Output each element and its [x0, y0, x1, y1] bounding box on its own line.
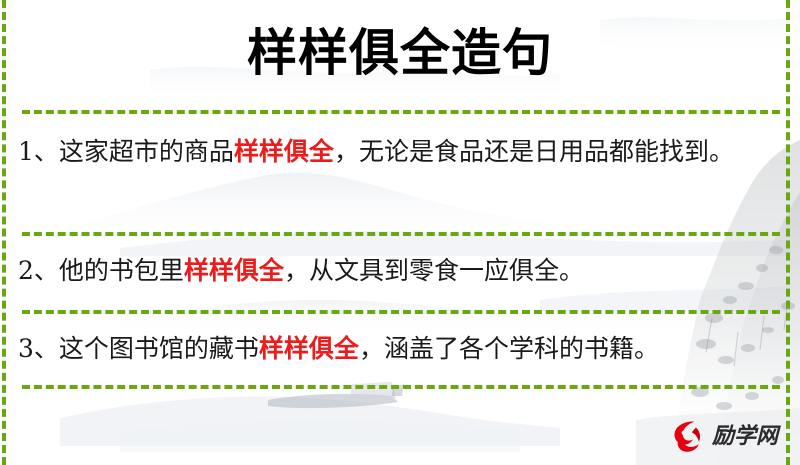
divider-title: [22, 110, 780, 114]
divider-sentence-3: [22, 385, 780, 389]
sentence-1-before: 这家超市的商品: [59, 137, 234, 166]
divider-sentence-2: [22, 310, 780, 314]
sentence-1-highlight: 样样俱全: [234, 137, 334, 166]
sentence-3-highlight: 样样俱全: [259, 334, 359, 363]
divider-sentence-1: [22, 232, 780, 236]
sentence-2-index: 2、: [18, 256, 59, 285]
sentence-item-2: 2、他的书包里样样俱全，从文具到零食一应俱全。: [18, 249, 772, 293]
sentence-3-before: 这个图书馆的藏书: [59, 334, 259, 363]
sentence-2-highlight: 样样俱全: [184, 256, 284, 285]
sentence-3-index: 3、: [18, 334, 59, 363]
sentence-1-after: ，无论是食品还是日用品都能找到。: [334, 137, 734, 166]
site-logo-text: 励学网: [712, 418, 778, 456]
sentence-item-1: 1、这家超市的商品样样俱全，无论是食品还是日用品都能找到。: [18, 130, 772, 174]
sentence-1-index: 1、: [18, 137, 59, 166]
sentence-item-3: 3、这个图书馆的藏书样样俱全，涵盖了各个学科的书籍。: [18, 327, 772, 371]
red-flame-swirl-icon: [668, 418, 706, 456]
site-logo: 励学网: [668, 415, 794, 459]
sentence-2-after: ，从文具到零食一应俱全。: [284, 256, 584, 285]
sentence-3-after: ，涵盖了各个学科的书籍。: [359, 334, 659, 363]
page-title: 样样俱全造句: [0, 22, 800, 84]
sentence-2-before: 他的书包里: [59, 256, 184, 285]
slide-canvas: 样样俱全造句 1、这家超市的商品样样俱全，无论是食品还是日用品都能找到。 2、他…: [0, 0, 800, 465]
